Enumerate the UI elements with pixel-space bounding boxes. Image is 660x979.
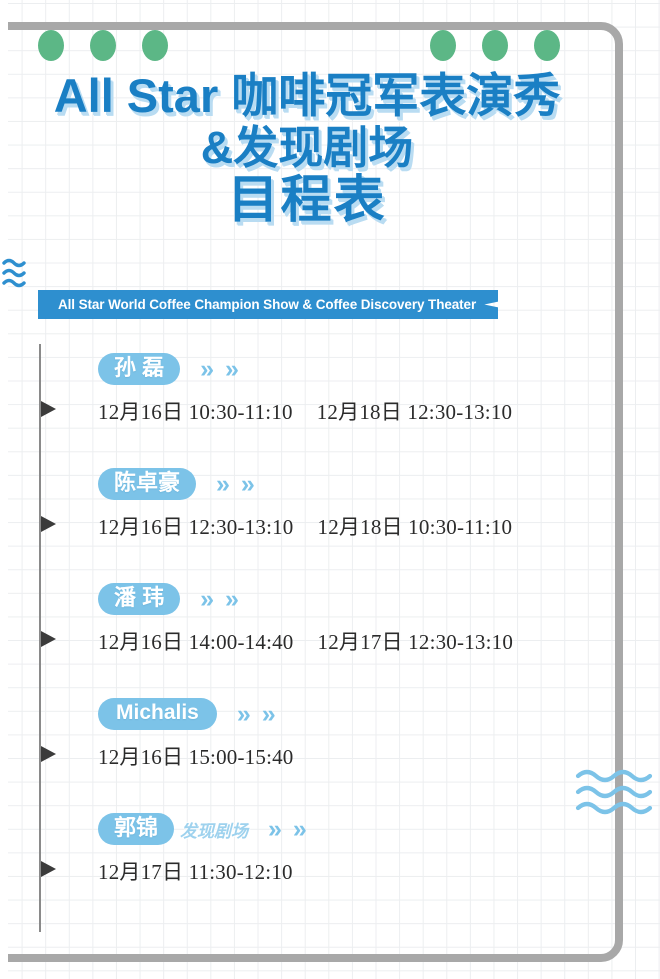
subtitle-banner: All Star World Coffee Champion Show & Co…: [38, 290, 498, 319]
subtitle-banner-text: All Star World Coffee Champion Show & Co…: [58, 297, 476, 312]
entry-header: 陈卓豪»»: [98, 467, 255, 501]
venue-tag: 发现剧场: [180, 817, 248, 842]
schedule-entry: 陈卓豪»»12月16日 12:30-13:1012月18日 10:30-11:1…: [0, 467, 614, 582]
chevron-group: »»: [268, 817, 307, 842]
time-slot: 12月16日 10:30-11:10: [98, 396, 293, 426]
play-triangle-icon: [41, 516, 56, 532]
double-chevron-right-icon: »: [262, 702, 276, 727]
decorative-dot: [38, 30, 64, 61]
double-chevron-right-icon: »: [293, 817, 307, 842]
double-chevron-right-icon: »: [268, 817, 282, 842]
title-line-1: All Star 咖啡冠军表演秀: [0, 72, 614, 119]
double-chevron-right-icon: »: [216, 472, 230, 497]
green-dots-row: [0, 26, 614, 66]
schedule-entry: Michalis»»12月16日 15:00-15:40: [0, 697, 614, 812]
chevron-group: »»: [216, 472, 255, 497]
time-slot: 12月18日 10:30-11:10: [318, 511, 513, 541]
title-line-3: 目程表: [0, 174, 614, 225]
schedule-list: 孙 磊»»12月16日 10:30-11:1012月18日 12:30-13:1…: [0, 352, 614, 927]
entry-header: 孙 磊»»: [98, 352, 239, 386]
performer-name-pill: 孙 磊: [98, 353, 180, 384]
chevron-group: »»: [237, 702, 276, 727]
performer-name-pill: 郭锦: [98, 813, 174, 844]
performer-name-pill: 潘 玮: [98, 583, 180, 614]
time-slot: 12月17日 11:30-12:10: [98, 856, 293, 886]
time-slot: 12月16日 14:00-14:40: [98, 626, 294, 656]
entry-times: 12月16日 15:00-15:40: [98, 741, 294, 771]
double-chevron-right-icon: »: [200, 357, 214, 382]
schedule-entry: 潘 玮»»12月16日 14:00-14:4012月17日 12:30-13:1…: [0, 582, 614, 697]
time-slot: 12月18日 12:30-13:10: [317, 396, 513, 426]
entry-times: 12月17日 11:30-12:10: [98, 856, 293, 886]
performer-name-pill: 陈卓豪: [98, 468, 196, 499]
entry-header: 郭锦发现剧场»»: [98, 812, 307, 846]
chevron-group: »»: [200, 357, 239, 382]
decorative-dot: [482, 30, 508, 61]
poster-canvas: All Star 咖啡冠军表演秀 &发现剧场 目程表 All Star Worl…: [0, 0, 660, 979]
play-triangle-icon: [41, 861, 56, 877]
time-slot: 12月16日 12:30-13:10: [98, 511, 294, 541]
play-triangle-icon: [41, 631, 56, 647]
time-slot: 12月17日 12:30-13:10: [318, 626, 514, 656]
entry-times: 12月16日 14:00-14:4012月17日 12:30-13:10: [98, 626, 513, 656]
double-chevron-right-icon: »: [237, 702, 251, 727]
decorative-dot: [430, 30, 456, 61]
decorative-dot: [534, 30, 560, 61]
double-chevron-right-icon: »: [225, 587, 239, 612]
double-chevron-right-icon: »: [241, 472, 255, 497]
entry-times: 12月16日 10:30-11:1012月18日 12:30-13:10: [98, 396, 512, 426]
time-slot: 12月16日 15:00-15:40: [98, 741, 294, 771]
page-title: All Star 咖啡冠军表演秀 &发现剧场 目程表: [0, 72, 614, 225]
chevron-group: »»: [200, 587, 239, 612]
performer-name-pill: Michalis: [98, 698, 217, 730]
play-triangle-icon: [41, 746, 56, 762]
play-triangle-icon: [41, 401, 56, 417]
decorative-dot: [90, 30, 116, 61]
entry-header: Michalis»»: [98, 697, 276, 731]
double-chevron-right-icon: »: [200, 587, 214, 612]
title-line-2: &发现剧场: [0, 125, 614, 170]
entry-header: 潘 玮»»: [98, 582, 239, 616]
double-chevron-right-icon: »: [225, 357, 239, 382]
wave-icon: [2, 256, 42, 292]
schedule-entry: 孙 磊»»12月16日 10:30-11:1012月18日 12:30-13:1…: [0, 352, 614, 467]
schedule-entry: 郭锦发现剧场»»12月17日 11:30-12:10: [0, 812, 614, 927]
decorative-dot: [142, 30, 168, 61]
entry-times: 12月16日 12:30-13:1012月18日 10:30-11:10: [98, 511, 512, 541]
